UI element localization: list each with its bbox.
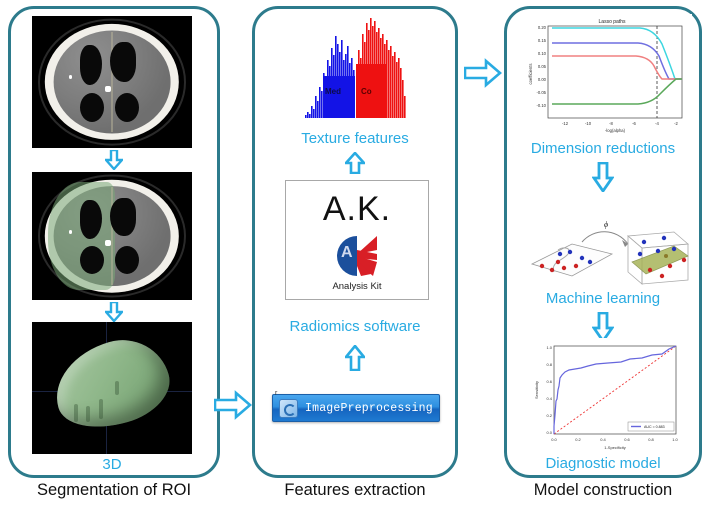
- svg-text:-8: -8: [609, 121, 613, 126]
- svg-text:0.05: 0.05: [538, 64, 547, 69]
- arrow-up-features-1: [345, 152, 365, 174]
- svg-text:0.6: 0.6: [546, 379, 552, 384]
- arrow-up-features-2: [345, 345, 365, 371]
- svg-text:1.0: 1.0: [546, 345, 552, 350]
- caption-model: Model construction: [504, 481, 702, 500]
- svg-text:Sensitivity: Sensitivity: [534, 381, 539, 399]
- svg-text:0.15: 0.15: [538, 38, 547, 43]
- svg-text:ϕ: ϕ: [604, 220, 608, 229]
- svg-text:-12: -12: [562, 121, 569, 126]
- ak-logo-icon: A: [337, 236, 377, 276]
- svg-text:Lasso paths: Lasso paths: [599, 19, 626, 25]
- arrow-down-seg-1: [105, 150, 123, 170]
- lasso-paths-chart: Lasso paths 0.200.15 0.100.05 0.00-0.05 …: [520, 14, 692, 134]
- image-preprocessing-button[interactable]: r ImagePreprocessing: [272, 394, 440, 422]
- volume-3d: [32, 322, 192, 454]
- svg-text:0.2: 0.2: [575, 437, 581, 442]
- svg-text:0.20: 0.20: [538, 25, 547, 30]
- ak-subtitle: Analysis Kit: [332, 281, 381, 292]
- arrow-down-model-1: [592, 162, 614, 192]
- svg-text:0.0: 0.0: [546, 430, 552, 435]
- arrow-features-to-model: [464, 58, 502, 88]
- svg-text:0.4: 0.4: [546, 396, 552, 401]
- histogram-label-right: Co: [361, 87, 372, 96]
- label-texture-features: Texture features: [252, 130, 458, 147]
- svg-text:0.8: 0.8: [546, 362, 552, 367]
- svg-text:-4: -4: [655, 121, 659, 126]
- svg-text:-10: -10: [585, 121, 592, 126]
- caption-features: Features extraction: [252, 481, 458, 500]
- svg-text:0.2: 0.2: [546, 413, 552, 418]
- label-diagnostic-model: Diagnostic model: [504, 455, 702, 472]
- svg-text:-log(alpha): -log(alpha): [605, 128, 626, 133]
- label-radiomics-software: Radiomics software: [252, 318, 458, 335]
- image-preprocessing-icon: [279, 399, 298, 418]
- label-machine-learning: Machine learning: [504, 290, 702, 307]
- intensity-histogram: Med Co: [303, 18, 407, 118]
- ak-title: A.K.: [323, 190, 391, 229]
- roc-curve-chart: 1.00.8 0.60.4 0.20.0 0.00.2 0.40.6 0.81.…: [528, 338, 688, 452]
- svg-text:0.4: 0.4: [600, 437, 606, 442]
- label-dimension-reductions: Dimension reductions: [504, 140, 702, 157]
- label-3d: 3D: [32, 456, 192, 473]
- caption-segmentation: Segmentation of ROI: [8, 481, 220, 500]
- svg-text:0.10: 0.10: [538, 51, 547, 56]
- svg-text:-0.05: -0.05: [536, 90, 546, 95]
- image-preprocessing-label: ImagePreprocessing: [305, 402, 433, 415]
- svg-text:1-Specificity: 1-Specificity: [604, 445, 626, 450]
- roc-legend-text: AUC = 0.883: [644, 425, 665, 429]
- svg-text:-2: -2: [674, 121, 678, 126]
- svg-text:0.0: 0.0: [551, 437, 557, 442]
- histogram-svg: [303, 18, 407, 118]
- analysis-kit-logo-box: A.K. A Analysis Kit: [285, 180, 429, 300]
- svg-text:-6: -6: [632, 121, 636, 126]
- svg-text:1.0: 1.0: [672, 437, 678, 442]
- histogram-label-left: Med: [325, 87, 341, 96]
- svg-text:0.8: 0.8: [648, 437, 654, 442]
- svg-text:0.6: 0.6: [624, 437, 630, 442]
- arrow-down-seg-2: [105, 302, 123, 322]
- axial-ct-roi: [32, 172, 192, 300]
- kernel-trick-diagram: ϕ: [524, 218, 694, 288]
- button-corner-mark: r: [275, 390, 277, 397]
- svg-text:-0.10: -0.10: [536, 103, 546, 108]
- axial-ct-plain: [32, 16, 192, 148]
- arrow-seg-to-features: [214, 390, 252, 420]
- svg-text:0.00: 0.00: [538, 77, 547, 82]
- svg-text:coefficients: coefficients: [528, 64, 533, 85]
